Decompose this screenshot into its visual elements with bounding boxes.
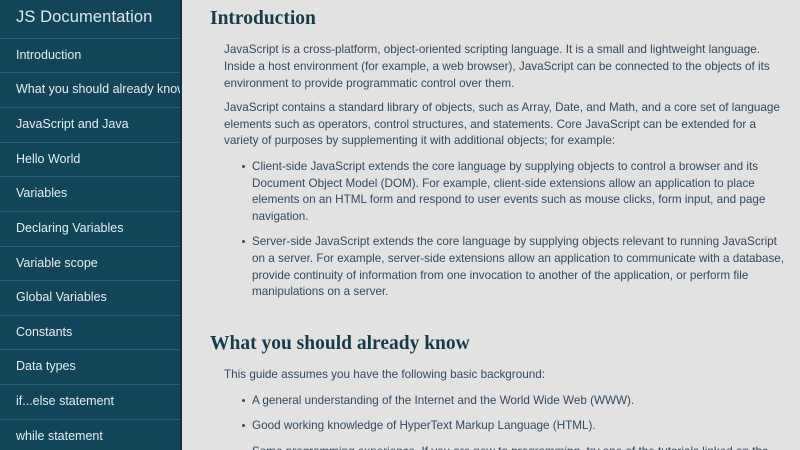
list-item: Client-side JavaScript extends the core … [242, 159, 788, 225]
main-content: Introduction JavaScript is a cross-platf… [194, 0, 800, 450]
sidebar-item-global-variables[interactable]: Global Variables [0, 280, 180, 315]
sidebar-item-data-types[interactable]: Data types [0, 349, 180, 384]
documentation-page: JS Documentation Introduction What you s… [0, 0, 800, 450]
bullet-list: Client-side JavaScript extends the core … [224, 159, 788, 301]
sidebar-item-while-statement[interactable]: while statement [0, 419, 180, 450]
section-introduction: Introduction JavaScript is a cross-platf… [194, 0, 800, 301]
sidebar-title: JS Documentation [0, 0, 180, 38]
list-item: Good working knowledge of HyperText Mark… [242, 418, 788, 435]
sidebar-navigation: JS Documentation Introduction What you s… [0, 0, 182, 450]
section-spacer [194, 301, 800, 325]
sidebar-item-constants[interactable]: Constants [0, 315, 180, 350]
section-what-you-should-already-know: What you should already know This guide … [194, 325, 800, 450]
sidebar-item-hello-world[interactable]: Hello World [0, 142, 180, 177]
sidebar-content-gutter [182, 0, 194, 450]
section-heading-introduction: Introduction [202, 0, 792, 34]
sidebar-item-javascript-and-java[interactable]: JavaScript and Java [0, 107, 180, 142]
sidebar-item-if-else-statement[interactable]: if...else statement [0, 384, 180, 419]
sidebar-item-introduction[interactable]: Introduction [0, 38, 180, 73]
list-item: A general understanding of the Internet … [242, 393, 788, 410]
section-body-what-you-should-already-know: This guide assumes you have the followin… [202, 367, 792, 450]
section-heading-what-you-should-already-know: What you should already know [202, 325, 792, 359]
sidebar-item-what-you-should-already-know[interactable]: What you should already know [0, 72, 180, 107]
sidebar-item-declaring-variables[interactable]: Declaring Variables [0, 211, 180, 246]
paragraph: JavaScript contains a standard library o… [224, 100, 788, 150]
paragraph: This guide assumes you have the followin… [224, 367, 788, 384]
sidebar-item-variable-scope[interactable]: Variable scope [0, 246, 180, 281]
sidebar-item-list: Introduction What you should already kno… [0, 38, 180, 450]
section-body-introduction: JavaScript is a cross-platform, object-o… [202, 42, 792, 301]
list-item: Server-side JavaScript extends the core … [242, 234, 788, 300]
sidebar-item-variables[interactable]: Variables [0, 176, 180, 211]
paragraph: JavaScript is a cross-platform, object-o… [224, 42, 788, 92]
bullet-list: A general understanding of the Internet … [224, 393, 788, 450]
list-item: Some programming experience. If you are … [242, 444, 788, 450]
